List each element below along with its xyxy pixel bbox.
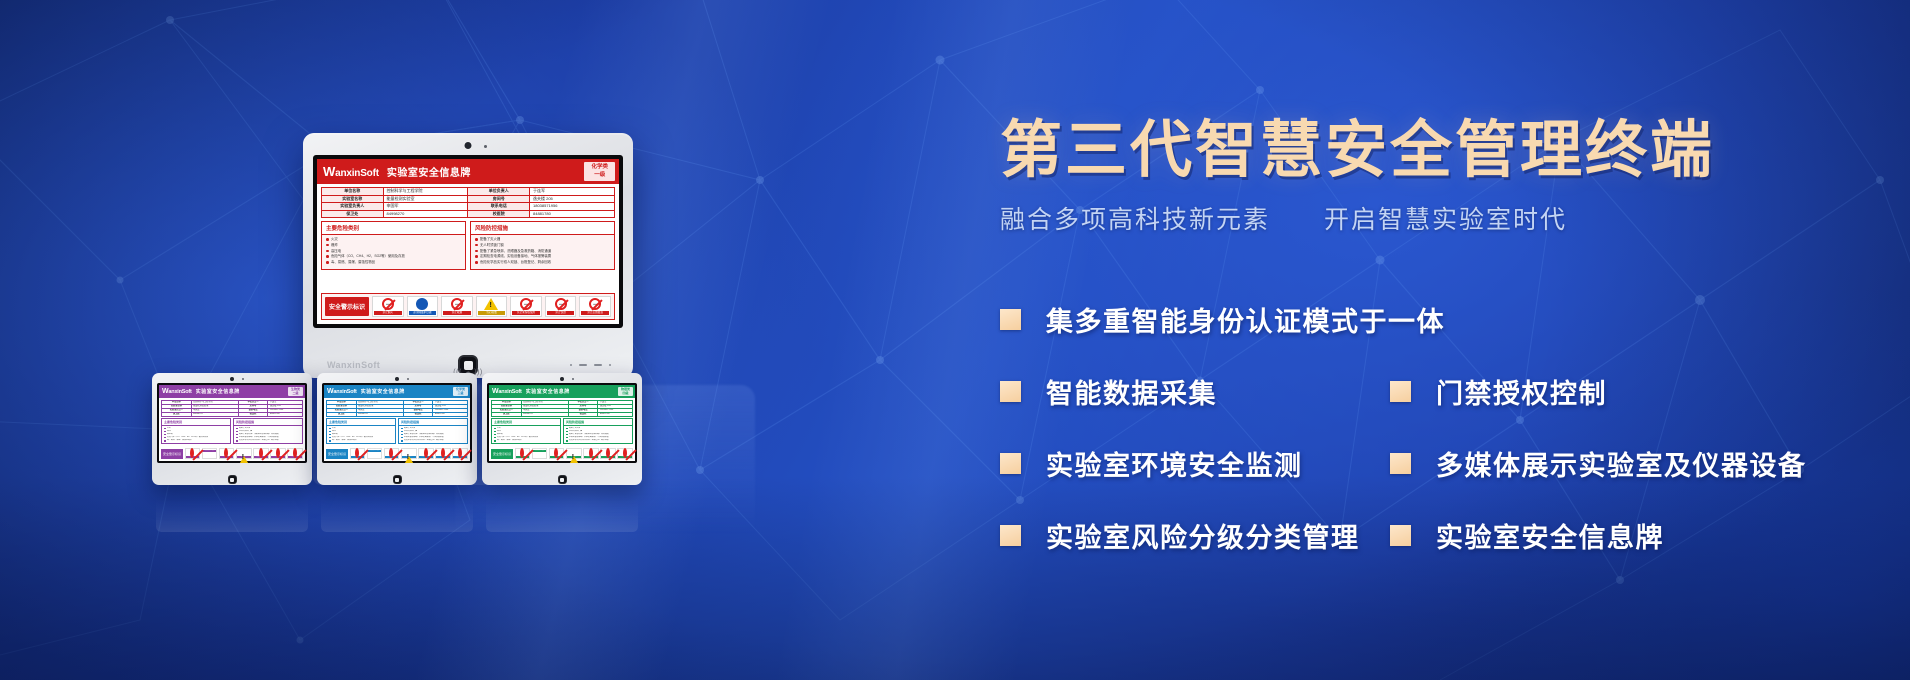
- list-item: 毒、易燃、易爆、腐蚀性物品: [329, 439, 393, 441]
- square-bullet-icon: [1390, 453, 1411, 474]
- feature-item[interactable]: 门禁授权控制: [1390, 372, 1607, 411]
- list-item-text: 无人时须锁门窗: [480, 243, 504, 247]
- brand-name: anxinSoft: [333, 389, 356, 395]
- main-tablet-screen: WanxinSoft 实验室安全信息牌 化学类 一级 单位名称控制科学与工程学院…: [313, 155, 623, 328]
- list-item: 爆炸: [326, 243, 461, 247]
- bullet-dot-icon: [401, 437, 403, 439]
- sign-caption: 必须佩戴护目镜: [533, 450, 547, 452]
- list-item-text: 火灾: [167, 427, 171, 429]
- grade-level: 四级: [621, 392, 630, 396]
- list-item: 配备了灭火器: [401, 427, 465, 429]
- camera-icon: [465, 142, 472, 149]
- hazard-section: 主要危险类别火灾爆炸高压电危险气体（CO、CH4、H2、SO2等）使用及存放毒、…: [326, 418, 396, 444]
- eye-protection-icon: [416, 298, 428, 310]
- small-tablet-screen: WanxinSoft实验室安全信息牌生物类二级单位名称控制科学与工程学院单位负责…: [157, 383, 307, 463]
- list-item-text: 无人时须锁门窗: [569, 430, 582, 432]
- bullet-dot-icon: [475, 250, 478, 253]
- bullet-dot-icon: [236, 440, 238, 442]
- list-item-text: 定期检查电源线、实验设备接地、气体报警装置: [569, 436, 609, 438]
- bullet-dot-icon: [236, 437, 238, 439]
- table-field-value: 84998270: [356, 412, 403, 416]
- warning-sign-list: 禁止烟火必须佩戴护目镜禁止吸烟当心腐蚀禁止未授权使用禁止饮食禁止乱倒废液: [515, 448, 633, 459]
- bullet-dot-icon: [164, 434, 166, 436]
- sign-caption: 禁止吸烟: [443, 311, 471, 315]
- list-item-text: 爆炸: [332, 430, 336, 432]
- control-section-title: 风险防控措施: [234, 419, 302, 426]
- sign-glyph: [374, 298, 402, 311]
- sections-row: 主要危险类别 火灾爆炸高压电危险气体（CO、CH4、H2、SO2等）使用及存放毒…: [321, 221, 615, 270]
- list-item: 定期检查电源线、实验设备接地、气体报警装置: [401, 436, 465, 438]
- list-item: 无人时须锁门窗: [566, 430, 630, 432]
- warning-sign-list: 禁止烟火必须佩戴护目镜禁止吸烟当心腐蚀禁止未授权使用禁止饮食禁止乱倒废液: [372, 296, 611, 317]
- warning-sign: 禁止吸烟: [219, 448, 235, 459]
- table-field-value: 84881780: [268, 412, 303, 416]
- table-field-value: 控制科学与工程学院: [383, 188, 468, 196]
- list-item: 高压电: [164, 433, 228, 435]
- list-item-text: 火灾: [332, 427, 336, 429]
- warning-row-label: 安全警示标识: [161, 449, 183, 459]
- board-header: WanxinSoft实验室安全信息牌化学类三级: [324, 385, 470, 398]
- warning-sign-list: 禁止烟火必须佩戴护目镜禁止吸烟当心腐蚀禁止未授权使用禁止饮食禁止乱倒废液: [350, 448, 468, 459]
- hazard-section-title: 主要危险类别: [322, 222, 465, 235]
- bullet-dot-icon: [329, 440, 331, 442]
- bullet-dot-icon: [236, 428, 238, 430]
- bullet-dot-icon: [329, 428, 331, 430]
- square-bullet-icon: [1000, 309, 1021, 330]
- sign-caption: 禁止未授权使用: [512, 311, 540, 315]
- list-item: 火灾: [494, 427, 558, 429]
- warning-row-label: 安全警示标识: [491, 449, 513, 459]
- bullet-dot-icon: [566, 434, 568, 436]
- table-field-value: 申国军: [383, 203, 468, 211]
- info-table: 单位名称控制科学与工程学院单位负责人于连军实验室名称能量检测实验室房间号逸夫楼 …: [321, 187, 615, 218]
- hazard-warning-icon: [484, 298, 498, 310]
- feature-label: 实验室风险分级分类管理: [1046, 516, 1360, 555]
- bullet-dot-icon: [475, 255, 478, 258]
- list-item-text: 配备了紧急喷淋、洗眼器及急救药箱、消防通道: [569, 433, 609, 435]
- prohibition-icon: [293, 448, 297, 458]
- list-item-text: 配备了灭火器: [480, 237, 500, 241]
- bullet-dot-icon: [326, 250, 329, 253]
- prohibition-icon: [389, 448, 393, 458]
- sign-caption: 禁止烟火: [374, 311, 402, 315]
- table-field-label: 保卫处: [492, 412, 522, 416]
- table-field-value: 84998270: [521, 412, 568, 416]
- bullet-dot-icon: [494, 431, 496, 433]
- copy-column: 第三代智慧安全管理终端 融合多项高科技新元素 开启智慧实验室时代 集多重智能身份…: [1000, 118, 1880, 572]
- table-field-label: 校医院: [403, 412, 433, 416]
- feature-item[interactable]: 实验室风险分级分类管理: [1000, 516, 1390, 555]
- list-item: 高压电: [329, 433, 393, 435]
- list-item: 定期检查电源线、实验设备接地、气体报警装置: [236, 436, 300, 438]
- sign-glyph: [409, 298, 437, 311]
- list-item-text: 危险气体（CO、CH4、H2、SO2等）使用及存放: [167, 436, 208, 438]
- sign-caption: 当心腐蚀: [478, 311, 506, 315]
- list-item: 毒、易燃、易爆、腐蚀性物品: [164, 439, 228, 441]
- safety-info-board: WanxinSoft 实验室安全信息牌 化学类 一级 单位名称控制科学与工程学院…: [317, 159, 619, 324]
- table-field-value: 能量检测实验室: [383, 195, 468, 203]
- warning-sign: 禁止烟火: [372, 296, 404, 317]
- list-item-text: 爆炸: [331, 243, 338, 247]
- list-item: 配备了灭火器: [566, 427, 630, 429]
- prohibition-icon: [276, 448, 280, 458]
- table-field-label: 实验室负责人: [322, 203, 384, 211]
- info-table: 单位名称控制科学与工程学院单位负责人于连军实验室名称能量检测实验室房间号逸夫楼 …: [161, 400, 303, 417]
- control-section-title: 风险防控措施: [564, 419, 632, 426]
- control-list: 配备了灭火器无人时须锁门窗配备了紧急喷淋、洗眼器及急救药箱、消防通道定期检查电源…: [399, 426, 467, 443]
- main-tablet-device: WanxinSoft 实验室安全信息牌 化学类 一级 单位名称控制科学与工程学院…: [303, 133, 633, 378]
- grade-category: 化学类: [591, 164, 608, 171]
- list-item: 爆炸: [494, 430, 558, 432]
- sign-glyph: [237, 450, 251, 456]
- warning-sign: 禁止乱倒废液: [579, 296, 611, 317]
- table-field-label: 保卫处: [162, 412, 192, 416]
- brand-name: anxinSoft: [168, 389, 191, 395]
- warning-sign: 禁止未授权使用: [510, 296, 542, 317]
- list-item: 危险气体（CO、CH4、H2、SO2等）使用及存放: [494, 436, 558, 438]
- bullet-dot-icon: [494, 437, 496, 439]
- bullet-dot-icon: [475, 244, 478, 247]
- info-table: 单位名称控制科学与工程学院单位负责人于连军实验室名称能量检测实验室房间号逸夫楼 …: [491, 400, 633, 417]
- small-tablet-screen: WanxinSoft实验室安全信息牌化学类三级单位名称控制科学与工程学院单位负责…: [322, 383, 472, 463]
- brand-logo: WanxinSoft: [327, 388, 357, 395]
- sign-caption: 必须佩戴护目镜: [203, 450, 217, 452]
- warning-sign: 禁止未授权使用: [418, 448, 434, 459]
- grade-badge: 物理类四级: [618, 387, 633, 396]
- prohibition-icon: [259, 448, 263, 458]
- control-section: 风险防控措施配备了灭火器无人时须锁门窗配备了紧急喷淋、洗眼器及急救药箱、消防通道…: [563, 418, 633, 444]
- grade-level: 二级: [291, 392, 300, 396]
- table-field-label: 实验室名称: [322, 195, 384, 203]
- board-header: WanxinSoft 实验室安全信息牌 化学类 一级: [317, 159, 619, 184]
- prohibition-icon: [520, 448, 524, 458]
- feature-row: 实验室风险分级分类管理实验室安全信息牌: [1000, 500, 1880, 572]
- bullet-dot-icon: [236, 434, 238, 436]
- square-bullet-icon: [1000, 381, 1021, 402]
- sensor-icon: [484, 145, 487, 148]
- warning-sign: 当心腐蚀: [476, 296, 508, 317]
- table-field-label: 校医院: [468, 210, 530, 218]
- grade-badge: 生物类二级: [288, 387, 303, 396]
- warning-sign: 必须佩戴护目镜: [202, 448, 218, 459]
- prohibition-icon: [424, 448, 428, 458]
- bullet-dot-icon: [566, 440, 568, 442]
- sections-row: 主要危险类别火灾爆炸高压电危险气体（CO、CH4、H2、SO2等）使用及存放毒、…: [326, 418, 468, 444]
- tablet-chin: [317, 474, 477, 485]
- brand-logo: WanxinSoft: [492, 388, 522, 395]
- square-bullet-icon: [1390, 381, 1411, 402]
- bullet-dot-icon: [326, 261, 329, 264]
- feature-item[interactable]: 实验室安全信息牌: [1390, 516, 1664, 555]
- table-field-label: 校医院: [238, 412, 268, 416]
- list-item: 高压电: [494, 433, 558, 435]
- feature-label: 集多重智能身份认证模式于一体: [1046, 300, 1445, 339]
- bullet-dot-icon: [329, 434, 331, 436]
- feature-row: 智能数据采集门禁授权控制: [1000, 356, 1880, 428]
- feature-item[interactable]: 多媒体展示实验室及仪器设备: [1390, 444, 1807, 483]
- table-field-label: 单位名称: [322, 188, 384, 196]
- control-section: 风险防控措施 配备了灭火器无人时须锁门窗配备了紧急喷淋、洗眼器及急救药箱、消防通…: [470, 221, 615, 270]
- warning-sign: 禁止吸烟: [384, 448, 400, 459]
- table-field-value: 84881780: [433, 412, 468, 416]
- prohibition-icon: [606, 448, 610, 458]
- list-item: 爆炸: [164, 430, 228, 432]
- board-header: WanxinSoft实验室安全信息牌物理类四级: [489, 385, 635, 398]
- small-tablet-device: WanxinSoft实验室安全信息牌化学类三级单位名称控制科学与工程学院单位负责…: [317, 373, 477, 485]
- table-row: 保卫处84998270校医院84881780: [327, 412, 468, 416]
- list-item-text: 危险化学品实行双人双锁、台账登记、剩余回收: [480, 260, 551, 264]
- prohibition-icon: [623, 448, 627, 458]
- list-item-text: 火灾: [331, 237, 338, 241]
- list-item: 毒、易燃、易爆、腐蚀性物品: [326, 260, 461, 264]
- bullet-dot-icon: [164, 437, 166, 439]
- hazard-list: 火灾爆炸高压电危险气体（CO、CH4、H2、SO2等）使用及存放毒、易燃、易爆、…: [492, 426, 560, 443]
- list-item: 毒、易燃、易爆、腐蚀性物品: [494, 439, 558, 441]
- grade-badge: 化学类 一级: [584, 162, 615, 181]
- feature-label: 实验室环境安全监测: [1046, 444, 1303, 483]
- sign-glyph: [547, 298, 575, 311]
- hazard-section: 主要危险类别 火灾爆炸高压电危险气体（CO、CH4、H2、SO2等）使用及存放毒…: [321, 221, 466, 270]
- list-item-text: 毒、易燃、易爆、腐蚀性物品: [331, 260, 375, 264]
- square-bullet-icon: [1000, 525, 1021, 546]
- list-item-text: 配备了灭火器: [569, 427, 580, 429]
- sign-caption: 必须佩戴护目镜: [409, 311, 437, 315]
- list-item: 配备了灭火器: [475, 237, 610, 241]
- list-item-text: 高压电: [497, 433, 503, 435]
- bullet-dot-icon: [475, 238, 478, 241]
- feature-item[interactable]: 智能数据采集: [1000, 372, 1390, 411]
- bullet-dot-icon: [494, 434, 496, 436]
- sensor-icon: [407, 378, 409, 380]
- table-field-value: 84881780: [530, 210, 615, 218]
- small-tablet-reflection: [486, 486, 638, 532]
- hazard-list: 火灾爆炸高压电危险气体（CO、CH4、H2、SO2等）使用及存放毒、易燃、易爆、…: [162, 426, 230, 443]
- table-field-label: 校医院: [568, 412, 598, 416]
- table-row: 实验室负责人申国军联系电话18038571956: [322, 203, 615, 211]
- list-item: 定期检查电源线、实验设备接地、气体报警装置: [566, 436, 630, 438]
- hazard-section-title: 主要危险类别: [327, 419, 395, 426]
- warning-sign: 当心腐蚀: [236, 448, 252, 459]
- board-header: WanxinSoft实验室安全信息牌生物类二级: [159, 385, 305, 398]
- warning-signs-row: 安全警示标识禁止烟火必须佩戴护目镜禁止吸烟当心腐蚀禁止未授权使用禁止饮食禁止乱倒…: [161, 448, 303, 459]
- grade-badge: 化学类三级: [453, 387, 468, 396]
- grade-level: 一级: [591, 172, 608, 179]
- table-row: 保卫处84998270校医院84881780: [162, 412, 303, 416]
- list-item-text: 配备了灭火器: [404, 427, 415, 429]
- bullet-dot-icon: [566, 437, 568, 439]
- table-row: 单位名称控制科学与工程学院单位负责人于连军: [322, 188, 615, 196]
- list-item: 危险气体（CO、CH4、H2、SO2等）使用及存放: [164, 436, 228, 438]
- prohibition-icon: [555, 298, 567, 310]
- bullet-dot-icon: [326, 255, 329, 258]
- home-button[interactable]: [228, 475, 237, 484]
- list-item-text: 危险气体（CO、CH4、H2、SO2等）使用及存放: [497, 436, 538, 438]
- home-button[interactable]: [558, 475, 567, 484]
- safety-info-board: WanxinSoft实验室安全信息牌物理类四级单位名称控制科学与工程学院单位负责…: [489, 385, 635, 461]
- hazard-warning-icon: [237, 450, 251, 463]
- grade-level: 三级: [456, 392, 465, 396]
- bullet-dot-icon: [164, 431, 166, 433]
- bullet-dot-icon: [401, 440, 403, 442]
- warning-sign: 禁止未授权使用: [253, 448, 269, 459]
- list-item-text: 毒、易燃、易爆、腐蚀性物品: [497, 439, 522, 441]
- warning-signs-row: 安全警示标识 禁止烟火必须佩戴护目镜禁止吸烟当心腐蚀禁止未授权使用禁止饮食禁止乱…: [321, 293, 615, 320]
- safety-info-board: WanxinSoft实验室安全信息牌生物类二级单位名称控制科学与工程学院单位负责…: [159, 385, 305, 461]
- warning-sign: 禁止烟火: [515, 448, 531, 459]
- home-button[interactable]: [393, 475, 402, 484]
- list-item-text: 高压电: [331, 249, 341, 253]
- promo-banner: WanxinSoft 实验室安全信息牌 化学类 一级 单位名称控制科学与工程学院…: [0, 0, 1910, 680]
- prohibition-icon: [554, 448, 558, 458]
- small-tablet-screen: WanxinSoft实验室安全信息牌物理类四级单位名称控制科学与工程学院单位负责…: [487, 383, 637, 463]
- warning-signs-row: 安全警示标识禁止烟火必须佩戴护目镜禁止吸烟当心腐蚀禁止未授权使用禁止饮食禁止乱倒…: [326, 448, 468, 459]
- prohibition-icon: [355, 448, 359, 458]
- warning-sign: 当心腐蚀: [566, 448, 582, 459]
- control-section-title: 风险防控措施: [471, 222, 614, 235]
- list-item: 火灾: [326, 237, 461, 241]
- control-list: 配备了灭火器无人时须锁门窗配备了紧急喷淋、洗眼器及急救药箱、消防通道定期检查电源…: [564, 426, 632, 443]
- list-item: 配备了紧急喷淋、洗眼器及急救药箱、消防通道: [566, 433, 630, 435]
- bullet-dot-icon: [329, 437, 331, 439]
- hazard-warning-icon: [567, 450, 581, 463]
- list-item-text: 爆炸: [167, 430, 171, 432]
- warning-sign: 禁止饮食: [545, 296, 577, 317]
- device-showcase: WanxinSoft 实验室安全信息牌 化学类 一级 单位名称控制科学与工程学院…: [0, 0, 1000, 680]
- brand-logo: WanxinSoft: [323, 164, 379, 179]
- list-item: 无人时须锁门窗: [236, 430, 300, 432]
- page-title: 第三代智慧安全管理终端: [1000, 118, 1880, 184]
- info-table: 单位名称控制科学与工程学院单位负责人于连军实验室名称能量检测实验室房间号逸夫楼 …: [326, 400, 468, 417]
- warning-sign: 必须佩戴护目镜: [367, 448, 383, 459]
- list-item: 危险气体（CO、CH4、H2、SO2等）使用及存放: [329, 436, 393, 438]
- board-title: 实验室安全信息牌: [387, 164, 471, 179]
- feature-label: 门禁授权控制: [1436, 372, 1607, 411]
- sign-glyph: [402, 450, 416, 456]
- bullet-dot-icon: [326, 238, 329, 241]
- hazard-list: 火灾爆炸高压电危险气体（CO、CH4、H2、SO2等）使用及存放毒、易燃、易爆、…: [327, 426, 395, 443]
- control-list: 配备了灭火器无人时须锁门窗配备了紧急喷淋、洗眼器及急救药箱、消防通道定期检查电源…: [471, 235, 614, 269]
- hazard-warning-icon: [402, 450, 416, 463]
- list-item-text: 定期检查电源线、实验设备接地、气体报警装置: [404, 436, 444, 438]
- bullet-dot-icon: [401, 428, 403, 430]
- feature-list: 集多重智能身份认证模式于一体智能数据采集门禁授权控制实验室环境安全监测多媒体展示…: [1000, 284, 1880, 572]
- small-tablet-device: WanxinSoft实验室安全信息牌物理类四级单位名称控制科学与工程学院单位负责…: [482, 373, 642, 485]
- list-item-text: 毒、易燃、易爆、腐蚀性物品: [332, 439, 357, 441]
- page-subtitle: 融合多项高科技新元素 开启智慧实验室时代: [1000, 200, 1880, 236]
- table-field-label: 联系电话: [468, 203, 530, 211]
- table-field-value: 84998270: [383, 210, 468, 218]
- device-brand-label: WanxinSoft: [327, 360, 380, 370]
- sensor-icon: [242, 378, 244, 380]
- hazard-section: 主要危险类别火灾爆炸高压电危险气体（CO、CH4、H2、SO2等）使用及存放毒、…: [161, 418, 231, 444]
- prohibition-icon: [451, 298, 463, 310]
- list-item: 火灾: [164, 427, 228, 429]
- list-item: 配备了紧急喷淋、洗眼器及急救药箱、消防通道: [401, 433, 465, 435]
- feature-row: 集多重智能身份认证模式于一体: [1000, 284, 1880, 356]
- prohibition-icon: [190, 448, 194, 458]
- warning-sign: 禁止烟火: [185, 448, 201, 459]
- control-section: 风险防控措施配备了灭火器无人时须锁门窗配备了紧急喷淋、洗眼器及急救药箱、消防通道…: [398, 418, 468, 444]
- table-field-label: 单位负责人: [468, 188, 530, 196]
- table-field-label: 保卫处: [322, 210, 384, 218]
- bullet-dot-icon: [475, 261, 478, 264]
- warning-sign: 禁止未授权使用: [583, 448, 599, 459]
- bullet-dot-icon: [494, 440, 496, 442]
- indicator-dots: [570, 364, 611, 366]
- list-item: 危险气体（CO、CH4、H2、SO2等）使用及存放: [326, 254, 461, 258]
- list-item: 高压电: [326, 249, 461, 253]
- table-field-label: 保卫处: [327, 412, 357, 416]
- prohibition-icon: [589, 298, 601, 310]
- table-field-value: 18038571956: [530, 203, 615, 211]
- control-section-title: 风险防控措施: [399, 419, 467, 426]
- feature-item[interactable]: 集多重智能身份认证模式于一体: [1000, 300, 1390, 339]
- list-item-text: 配备了紧急喷淋、洗眼器及急救药箱、消防通道: [404, 433, 444, 435]
- prohibition-icon: [520, 298, 532, 310]
- control-section: 风险防控措施配备了灭火器无人时须锁门窗配备了紧急喷淋、洗眼器及急救药箱、消防通道…: [233, 418, 303, 444]
- list-item: 无人时须锁门窗: [401, 430, 465, 432]
- control-list: 配备了灭火器无人时须锁门窗配备了紧急喷淋、洗眼器及急救药箱、消防通道定期检查电源…: [234, 426, 302, 443]
- list-item: 配备了紧急喷淋、洗眼器及急救药箱、消防通道: [475, 249, 610, 253]
- board-title: 实验室安全信息牌: [196, 388, 240, 395]
- small-tablet-device: WanxinSoft实验室安全信息牌生物类二级单位名称控制科学与工程学院单位负责…: [152, 373, 312, 485]
- warning-sign: 禁止吸烟: [441, 296, 473, 317]
- feature-row: 实验室环境安全监测多媒体展示实验室及仪器设备: [1000, 428, 1880, 500]
- list-item: 危险化学品实行双人双锁、台账登记、剩余回收: [566, 439, 630, 441]
- feature-label: 智能数据采集: [1046, 372, 1217, 411]
- table-row: 实验室名称能量检测实验室房间号逸夫楼 205: [322, 195, 615, 203]
- sign-glyph: [478, 298, 506, 311]
- board-title: 实验室安全信息牌: [526, 388, 570, 395]
- warning-sign: 当心腐蚀: [401, 448, 417, 459]
- bullet-dot-icon: [236, 431, 238, 433]
- prohibition-icon: [441, 448, 445, 458]
- list-item-text: 配备了紧急喷淋、洗眼器及急救药箱、消防通道: [239, 433, 279, 435]
- bullet-dot-icon: [164, 428, 166, 430]
- list-item-text: 危险气体（CO、CH4、H2、SO2等）使用及存放: [331, 254, 405, 258]
- sign-caption: 禁止饮食: [547, 311, 575, 315]
- brand-name: anxinSoft: [335, 168, 379, 179]
- warning-sign: 禁止烟火: [350, 448, 366, 459]
- feature-item[interactable]: 实验室环境安全监测: [1000, 444, 1390, 483]
- warning-row-label: 安全警示标识: [326, 449, 348, 459]
- camera-icon: [560, 377, 564, 381]
- warning-sign-list: 禁止烟火必须佩戴护目镜禁止吸烟当心腐蚀禁止未授权使用禁止饮食禁止乱倒废液: [185, 448, 303, 459]
- list-item-text: 爆炸: [497, 430, 501, 432]
- list-item: 火灾: [329, 427, 393, 429]
- camera-icon: [230, 377, 234, 381]
- list-item: 无人时须锁门窗: [475, 243, 610, 247]
- sign-glyph: [512, 298, 540, 311]
- bullet-dot-icon: [566, 431, 568, 433]
- list-item-text: 配备了灭火器: [239, 427, 250, 429]
- bullet-dot-icon: [326, 244, 329, 247]
- brand-name: anxinSoft: [498, 389, 521, 395]
- list-item: 危险化学品实行双人双锁、台账登记、剩余回收: [236, 439, 300, 441]
- brand-logo: WanxinSoft: [162, 388, 192, 395]
- list-item-text: 危险化学品实行双人双锁、台账登记、剩余回收: [239, 439, 279, 441]
- table-field-label: 房间号: [468, 195, 530, 203]
- sections-row: 主要危险类别火灾爆炸高压电危险气体（CO、CH4、H2、SO2等）使用及存放毒、…: [161, 418, 303, 444]
- hazard-section-title: 主要危险类别: [162, 419, 230, 426]
- list-item: 定期检查电源线、实验设备接地、气体报警装置: [475, 254, 610, 258]
- list-item-text: 火灾: [497, 427, 501, 429]
- prohibition-icon: [224, 448, 228, 458]
- square-bullet-icon: [1390, 525, 1411, 546]
- sign-glyph: [567, 450, 581, 456]
- list-item: 爆炸: [329, 430, 393, 432]
- sign-caption: 禁止乱倒废液: [581, 311, 609, 315]
